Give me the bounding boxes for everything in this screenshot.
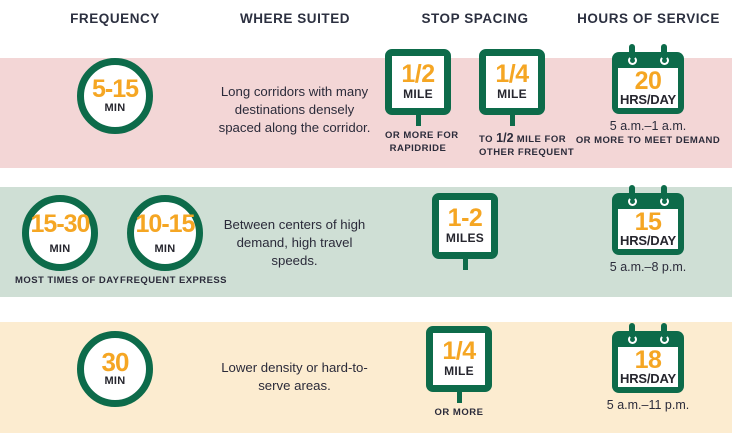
calendar-hole-left-icon xyxy=(628,56,637,65)
where-suited-text: Lower density or hard-to-serve areas. xyxy=(212,359,377,395)
frequency-unit: MIN xyxy=(29,244,91,255)
header-hours-of-service: HOURS OF SERVICE xyxy=(565,11,732,26)
frequency-caption: FREQUENT EXPRESS xyxy=(120,275,210,286)
calendar-hole-right-icon xyxy=(660,197,669,206)
stop-spacing-unit: MILE xyxy=(444,365,474,378)
stop-spacing-unit: MILE xyxy=(497,88,527,101)
frequency-value: 15-30 xyxy=(31,213,90,236)
stop-spacing-sign: 1-2 MILES xyxy=(432,193,498,270)
calendar-page: 20 HRS/DAY xyxy=(618,68,678,108)
stop-spacing-sign: 1/2 MILE OR MORE FOR RAPIDRIDE xyxy=(385,49,451,156)
calendar-hole-right-icon xyxy=(660,335,669,344)
caption-suffix: MILE FOR xyxy=(514,134,567,145)
calendar-icon: 15 HRS/DAY xyxy=(612,185,684,255)
frequency-unit: MIN xyxy=(104,103,125,114)
sign-post xyxy=(457,392,462,403)
stop-spacing-value: 1/4 xyxy=(442,340,475,364)
stop-spacing-unit: MILES xyxy=(446,232,484,245)
stop-spacing-value: 1/4 xyxy=(495,63,528,87)
hours-value: 15 xyxy=(635,211,662,234)
sign-post xyxy=(416,115,421,126)
sign-plate: 1-2 MILES xyxy=(432,193,498,259)
where-suited-text: Between centers of high demand, high tra… xyxy=(212,216,377,271)
frequency-badge: 30 MIN xyxy=(77,331,153,407)
hours-span: 5 a.m.–8 p.m. xyxy=(573,260,723,274)
stop-spacing-caption: TO 1/2 MILE FOR OTHER FREQUENT xyxy=(479,130,545,160)
frequency-badge: 10-15 MIN FREQUENT EXPRESS xyxy=(120,195,210,286)
hours-of-service-badge: 18 HRS/DAY 5 a.m.–11 p.m. xyxy=(612,323,684,412)
calendar-hole-right-icon xyxy=(660,56,669,65)
stop-spacing-caption-line1: TO 1/2 MILE FOR xyxy=(479,130,545,147)
frequency-value: 30 xyxy=(102,351,129,375)
stop-spacing-caption-line2: OTHER FREQUENT xyxy=(479,147,545,160)
calendar-hole-left-icon xyxy=(628,197,637,206)
hours-span: 5 a.m.–1 a.m. xyxy=(573,119,723,133)
hours-of-service-badge: 20 HRS/DAY 5 a.m.–1 a.m. OR MORE TO MEET… xyxy=(612,44,684,146)
frequency-unit: MIN xyxy=(134,244,196,255)
stop-spacing-caption: OR MORE xyxy=(426,407,492,420)
stop-spacing-caption-line1: OR MORE xyxy=(426,407,492,420)
sign-plate: 1/4 MILE xyxy=(479,49,545,115)
sign-plate: 1/2 MILE xyxy=(385,49,451,115)
calendar-page: 18 HRS/DAY xyxy=(618,347,678,387)
frequency-circle: 30 MIN xyxy=(77,331,153,407)
frequency-circle: 15-30 MIN xyxy=(22,195,98,271)
hours-unit: HRS/DAY xyxy=(620,93,676,106)
hours-value: 20 xyxy=(635,70,662,93)
hours-note: OR MORE TO MEET DEMAND xyxy=(573,135,723,146)
where-suited-text: Long corridors with many destinations de… xyxy=(212,83,377,138)
stop-spacing-sign: 1/4 MILE TO 1/2 MILE FOR OTHER FREQUENT xyxy=(479,49,545,160)
stop-spacing-sign: 1/4 MILE OR MORE xyxy=(426,326,492,420)
column-headers: FREQUENCY WHERE SUITED STOP SPACING HOUR… xyxy=(0,11,732,33)
sign-post xyxy=(463,259,468,270)
header-where-suited: WHERE SUITED xyxy=(205,11,385,26)
frequency-value: 5-15 xyxy=(92,78,138,101)
infographic-canvas: FREQUENCY WHERE SUITED STOP SPACING HOUR… xyxy=(0,0,732,441)
hours-unit: HRS/DAY xyxy=(620,372,676,385)
calendar-page: 15 HRS/DAY xyxy=(618,209,678,249)
calendar-icon: 18 HRS/DAY xyxy=(612,323,684,393)
calendar-hole-left-icon xyxy=(628,335,637,344)
stop-spacing-caption-line1: OR MORE FOR xyxy=(385,130,451,143)
hours-span: 5 a.m.–11 p.m. xyxy=(573,398,723,412)
calendar-icon: 20 HRS/DAY xyxy=(612,44,684,114)
hours-value: 18 xyxy=(635,349,662,372)
stop-spacing-caption: OR MORE FOR RAPIDRIDE xyxy=(385,130,451,156)
stop-spacing-unit: MILE xyxy=(403,88,433,101)
frequency-caption: MOST TIMES OF DAY xyxy=(15,275,105,286)
stop-spacing-value: 1/2 xyxy=(401,63,434,87)
hours-unit: HRS/DAY xyxy=(620,234,676,247)
caption-fraction: 1/2 xyxy=(496,131,513,145)
frequency-circle: 10-15 MIN xyxy=(127,195,203,271)
frequency-circle: 5-15 MIN xyxy=(77,58,153,134)
header-stop-spacing: STOP SPACING xyxy=(385,11,565,26)
frequency-badge: 5-15 MIN xyxy=(77,58,153,134)
frequency-unit: MIN xyxy=(104,376,125,387)
caption-prefix: TO xyxy=(479,134,496,145)
sign-plate: 1/4 MILE xyxy=(426,326,492,392)
frequency-value: 10-15 xyxy=(136,213,195,236)
stop-spacing-value: 1-2 xyxy=(448,207,483,231)
frequency-badge: 15-30 MIN MOST TIMES OF DAY xyxy=(15,195,105,286)
stop-spacing-caption-line2: RAPIDRIDE xyxy=(385,143,451,156)
header-frequency: FREQUENCY xyxy=(0,11,230,26)
hours-of-service-badge: 15 HRS/DAY 5 a.m.–8 p.m. xyxy=(612,185,684,274)
sign-post xyxy=(510,115,515,126)
